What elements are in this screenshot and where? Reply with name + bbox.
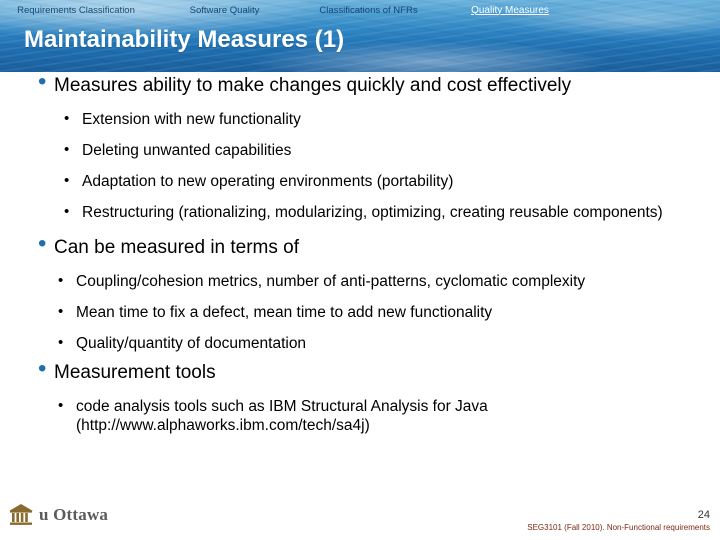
- bullet-dot-icon: •: [38, 232, 46, 256]
- bullet-text: Mean time to fix a defect, mean time to …: [76, 304, 492, 321]
- bullet-dot-icon: •: [58, 333, 63, 352]
- bullet-dot-icon: •: [64, 109, 69, 128]
- tab-classifications-of-nfrs[interactable]: Classifications of NFRs: [297, 5, 440, 16]
- footer-course-note: SEG3101 (Fall 2010). Non-Functional requ…: [527, 523, 710, 532]
- bullet-text: Can be measured in terms of: [54, 237, 299, 258]
- bullet-text: Extension with new functionality: [82, 111, 301, 128]
- bullet-level2: • Adaptation to new operating environmen…: [62, 172, 682, 191]
- slide-number: 24: [527, 509, 710, 521]
- bullet-level3: • Quality/quantity of documentation: [56, 334, 676, 353]
- university-logo-text: u Ottawa: [39, 505, 108, 525]
- slide-title: Maintainability Measures (1): [24, 26, 684, 54]
- bullet-text: code analysis tools such as IBM Structur…: [76, 398, 488, 434]
- bullet-dot-icon: •: [64, 202, 69, 221]
- bullet-level1: • Measurement tools: [36, 361, 720, 385]
- slide-body: • Measures ability to make changes quick…: [0, 74, 720, 494]
- bullet-level1: • Measures ability to make changes quick…: [36, 74, 720, 98]
- university-logo: u Ottawa: [8, 496, 128, 534]
- slide: Requirements Classification Software Qua…: [0, 0, 720, 540]
- footer-right: 24 SEG3101 (Fall 2010). Non-Functional r…: [527, 509, 710, 532]
- bullet-level2: • Restructuring (rationalizing, modulari…: [62, 203, 682, 222]
- bullet-text: Quality/quantity of documentation: [76, 335, 306, 352]
- bullet-text: Measures ability to make changes quickly…: [54, 75, 571, 96]
- section-tab-strip: Requirements Classification Software Qua…: [0, 0, 720, 20]
- bullet-text: Deleting unwanted capabilities: [82, 142, 291, 159]
- bullet-dot-icon: •: [58, 271, 63, 290]
- bullet-dot-icon: •: [64, 171, 69, 190]
- bullet-dot-icon: •: [38, 70, 46, 94]
- bullet-level3: • Coupling/cohesion metrics, number of a…: [56, 272, 676, 291]
- bullet-dot-icon: •: [38, 357, 46, 381]
- bullet-dot-icon: •: [58, 302, 63, 321]
- bullet-text: Restructuring (rationalizing, modularizi…: [82, 204, 663, 221]
- bullet-level1: • Can be measured in terms of: [36, 236, 720, 260]
- bullet-dot-icon: •: [58, 396, 63, 415]
- bullet-text: Adaptation to new operating environments…: [82, 173, 453, 190]
- tab-requirements-classification[interactable]: Requirements Classification: [0, 5, 152, 16]
- bullet-level2: • Deleting unwanted capabilities: [62, 141, 682, 160]
- university-building-icon: [8, 502, 34, 528]
- bullet-dot-icon: •: [64, 140, 69, 159]
- bullet-level2: • Extension with new functionality: [62, 110, 682, 129]
- bullet-level3: • code analysis tools such as IBM Struct…: [56, 397, 676, 435]
- tab-quality-measures[interactable]: Quality Measures: [440, 5, 580, 16]
- bullet-text: Measurement tools: [54, 362, 216, 383]
- bullet-level3: • Mean time to fix a defect, mean time t…: [56, 303, 676, 322]
- tab-software-quality[interactable]: Software Quality: [152, 5, 297, 16]
- bullet-text: Coupling/cohesion metrics, number of ant…: [76, 273, 585, 290]
